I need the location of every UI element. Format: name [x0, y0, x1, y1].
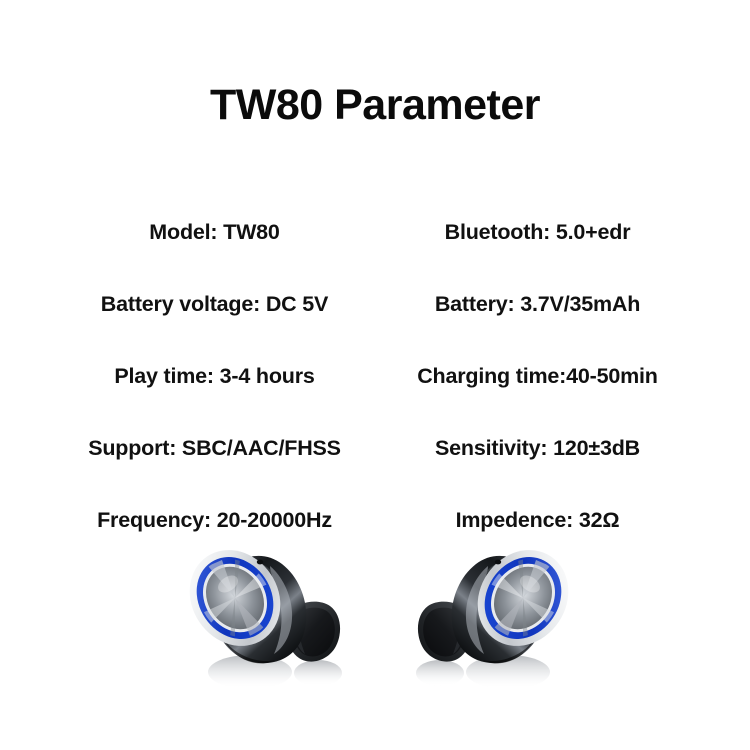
earbud-tip-reflection: [416, 660, 464, 686]
microphone-hole: [495, 560, 501, 565]
spec-item-bluetooth: Bluetooth: 5.0+edr: [375, 220, 690, 245]
spec-item-charging-time: Charging time:40-50min: [375, 364, 690, 389]
microphone-hole: [257, 560, 263, 565]
spec-item-support: Support: SBC/AAC/FHSS: [60, 436, 375, 461]
product-spec-page: TW80 Parameter Model: TW80 Bluetooth: 5.…: [0, 0, 750, 750]
spec-item-battery-voltage: Battery voltage: DC 5V: [60, 292, 375, 317]
product-image: [0, 528, 750, 728]
page-title: TW80 Parameter: [0, 82, 750, 129]
earbud-right: [380, 536, 580, 711]
spec-item-model: Model: TW80: [60, 220, 375, 245]
earbud-tip-reflection: [294, 660, 342, 686]
spec-item-play-time: Play time: 3-4 hours: [60, 364, 375, 389]
specification-grid: Model: TW80 Bluetooth: 5.0+edr Battery v…: [60, 196, 690, 556]
spec-item-battery: Battery: 3.7V/35mAh: [375, 292, 690, 317]
earbud-left: [178, 536, 378, 711]
spec-item-sensitivity: Sensitivity: 120±3dB: [375, 436, 690, 461]
